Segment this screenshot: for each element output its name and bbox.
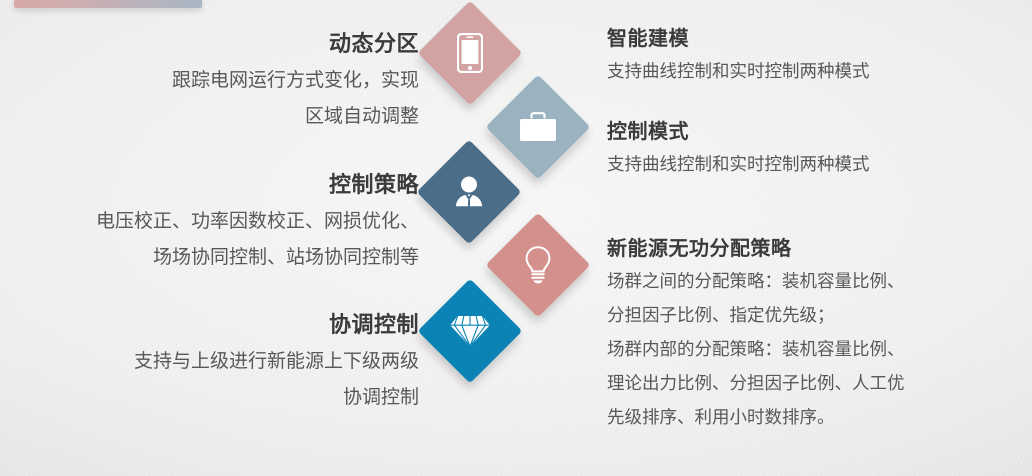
diamond-tile-4[interactable] [486, 213, 591, 318]
block-line: 场场协同控制、站场协同控制等 [0, 240, 419, 276]
right-text-block-2: 控制模式支持曲线控制和实时控制两种模式 [607, 115, 1027, 181]
block-line: 区域自动调整 [0, 99, 419, 135]
gradient-accent-bar [14, 0, 202, 8]
infographic-slide: 动态分区跟踪电网运行方式变化，实现区域自动调整控制策略电压校正、功率因数校正、网… [0, 0, 1032, 476]
block-line: 先级排序、利用小时数排序。 [607, 400, 1027, 434]
block-line: 支持曲线控制和实时控制两种模式 [607, 54, 1027, 88]
mobile-phone-icon [457, 33, 483, 73]
block-line: 电压校正、功率因数校正、网损优化、 [0, 204, 419, 240]
block-line: 协调控制 [0, 380, 419, 416]
block-title: 智能建模 [607, 22, 1027, 51]
briefcase-icon [518, 110, 558, 144]
block-title: 协调控制 [0, 307, 419, 339]
block-line: 分担因子比例、指定优先级； [607, 298, 1027, 332]
left-text-block-2: 控制策略电压校正、功率因数校正、网损优化、场场协同控制、站场协同控制等 [0, 167, 419, 276]
diamond-tile-5[interactable] [418, 279, 523, 384]
diamond-tile-2[interactable] [486, 75, 591, 180]
block-title: 控制模式 [607, 115, 1027, 144]
diamond-tile-3[interactable] [417, 140, 522, 245]
right-text-block-1: 智能建模支持曲线控制和实时控制两种模式 [607, 22, 1027, 88]
block-title: 动态分区 [0, 26, 419, 58]
diamond-tile-1[interactable] [418, 1, 523, 106]
lightbulb-icon [521, 245, 555, 285]
block-line: 支持曲线控制和实时控制两种模式 [607, 147, 1027, 181]
block-line: 场群之间的分配策略：装机容量比例、 [607, 264, 1027, 298]
block-line: 场群内部的分配策略：装机容量比例、 [607, 332, 1027, 366]
person-icon [450, 173, 488, 211]
left-text-block-1: 动态分区跟踪电网运行方式变化，实现区域自动调整 [0, 26, 419, 135]
gem-icon [449, 314, 491, 348]
block-line: 理论出力比例、分担因子比例、人工优 [607, 366, 1027, 400]
left-text-block-3: 协调控制支持与上级进行新能源上下级两级协调控制 [0, 307, 419, 416]
block-title: 控制策略 [0, 167, 419, 199]
block-line: 跟踪电网运行方式变化，实现 [0, 63, 419, 99]
block-line: 支持与上级进行新能源上下级两级 [0, 344, 419, 380]
block-title: 新能源无功分配策略 [607, 232, 1027, 261]
right-text-block-3: 新能源无功分配策略场群之间的分配策略：装机容量比例、分担因子比例、指定优先级；场… [607, 232, 1027, 434]
